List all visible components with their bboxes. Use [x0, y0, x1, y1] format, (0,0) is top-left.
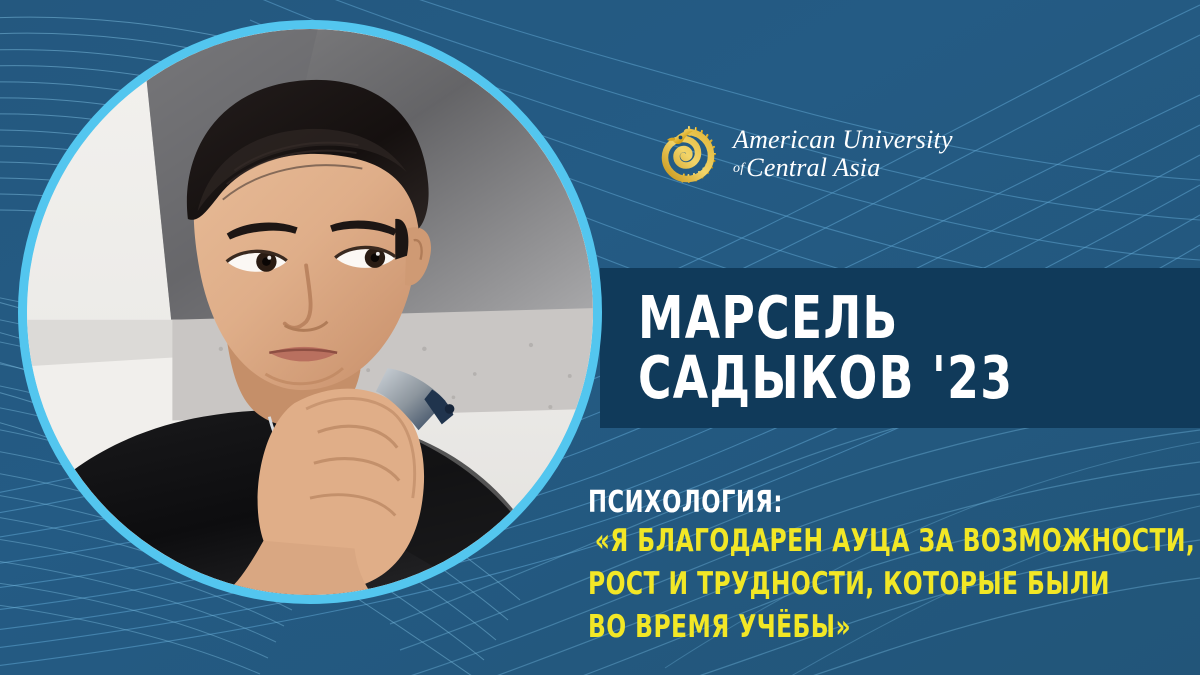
auca-eagle-sun-emblem	[655, 122, 719, 186]
auca-logo-line2: ofCentral Asia	[733, 154, 953, 182]
portrait-illustration	[27, 29, 593, 595]
portrait-photo-frame	[18, 20, 602, 604]
auca-logo-line1: American University	[733, 126, 953, 154]
quote-line-2: РОСТ И ТРУДНОСТИ, КОТОРЫЕ БЫЛИ	[588, 563, 1092, 606]
auca-logo-wordmark: American University ofCentral Asia	[733, 126, 953, 181]
auca-logo-line2-text: Central Asia	[746, 153, 880, 182]
quote-block: ПСИХОЛОГИЯ: «Я БЛАГОДАРЕН АУЦА ЗА ВОЗМОЖ…	[588, 486, 1188, 649]
graduate-testimonial-card: American University ofCentral Asia МАРСЕ…	[0, 0, 1200, 675]
graduate-name: МАРСЕЛЬ САДЫКОВ '23	[638, 288, 1013, 408]
auca-logo: American University ofCentral Asia	[655, 122, 953, 186]
quote-line-3: ВО ВРЕМЯ УЧЁБЫ»	[588, 606, 1092, 649]
auca-logo-of: of	[733, 161, 746, 176]
nameplate-banner: МАРСЕЛЬ САДЫКОВ '23	[600, 268, 1200, 428]
program-label: ПСИХОЛОГИЯ:	[588, 486, 1092, 520]
portrait-photo	[27, 29, 593, 595]
quote-line-1: «Я БЛАГОДАРЕН АУЦА ЗА ВОЗМОЖНОСТИ,	[588, 520, 1092, 563]
